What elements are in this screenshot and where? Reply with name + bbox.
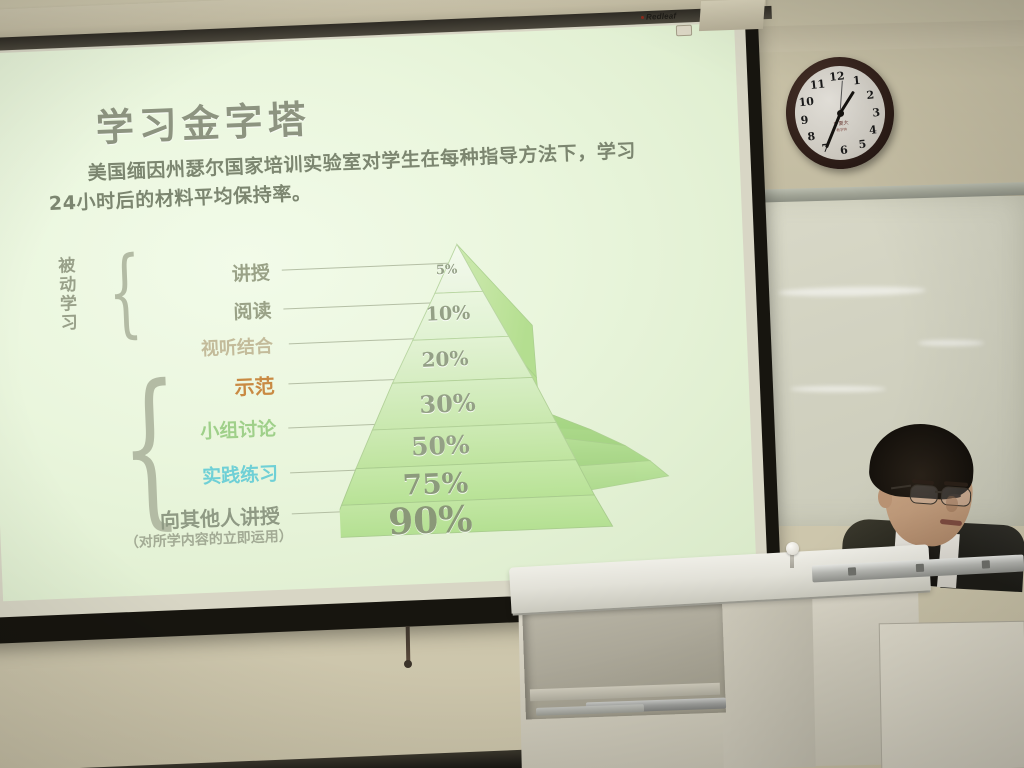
clock-number: 1: [849, 73, 864, 87]
pyramid-graphic: [328, 221, 701, 555]
nose: [946, 496, 958, 512]
equipment-cabinet-door[interactable]: [879, 621, 1024, 768]
projection-screen: 学习金字塔 美国缅因州瑟尔国家培训实验室对学生在每种指导方法下，学习24小时后的…: [0, 0, 782, 644]
rail-notch: [848, 567, 856, 575]
brand-dot-icon: [641, 16, 644, 19]
rail-notch: [916, 564, 924, 572]
whiteboard-glare: [918, 340, 984, 346]
screen-pull-cord-tip[interactable]: [404, 660, 412, 668]
stage-label-4: 小组讨论: [136, 414, 277, 447]
clock-number: 8: [804, 129, 819, 143]
clock-center-pin: [837, 110, 845, 118]
clock-number: 7: [818, 141, 833, 155]
pyramid-value-1: 10%: [425, 302, 470, 326]
clock-number: 6: [836, 143, 851, 157]
clock-number: 5: [855, 137, 870, 151]
page-title: 学习金字塔: [95, 88, 312, 152]
stage-label-2: 视听结合: [142, 332, 273, 363]
pyramid-value-4: 50%: [411, 430, 471, 461]
pyramid-value-2: 20%: [421, 346, 469, 372]
pyramid-value-0: 5%: [436, 262, 458, 278]
screen-pull-cord[interactable]: [406, 626, 411, 664]
stage-label-3: 示范: [144, 370, 275, 404]
brace-upper: {: [106, 243, 144, 340]
pyramid-value-3: 30%: [419, 388, 476, 419]
clock-number: 2: [863, 88, 878, 102]
pyramid-value-6: 90%: [387, 498, 473, 543]
stage-label-0: 讲授: [139, 258, 270, 290]
slide-content: 学习金字塔 美国缅因州瑟尔国家培训实验室对学生在每种指导方法下，学习24小时后的…: [0, 23, 757, 601]
eyeglass-lens-left: [909, 484, 938, 505]
rail-notch: [982, 560, 990, 568]
lectern-side-panel: [720, 595, 816, 768]
screen-brand-label: Redleaf: [646, 11, 677, 21]
clock-face: 12 1 2 3 4 5 6 7 8 9 10 11 宁夏大 教学钟: [790, 62, 889, 165]
screen-housing-screw: [676, 25, 692, 37]
pyramid-value-5: 75%: [402, 466, 469, 502]
classroom-scene: 12 1 2 3 4 5 6 7 8 9 10 11 宁夏大 教学钟: [0, 0, 1024, 768]
group-label-passive-learning: 被动学习: [49, 256, 78, 333]
clock-number: 11: [809, 78, 824, 92]
clock-number: 4: [865, 123, 880, 137]
projected-slide: 学习金字塔 美国缅因州瑟尔国家培训实验室对学生在每种指导方法下，学习24小时后的…: [0, 23, 757, 601]
clock-number: 3: [869, 106, 884, 120]
learning-pyramid-chart: 5% 10% 20% 30% 50% 75% 90%: [328, 221, 701, 555]
screen-mount-bracket: [699, 0, 765, 31]
clock-number: 10: [798, 95, 813, 109]
clock-number: 9: [797, 113, 812, 127]
whiteboard-glare: [790, 386, 886, 392]
microphone-knob[interactable]: [786, 542, 799, 555]
clock-brand-line2: 教学钟: [836, 127, 847, 132]
stage-label-5: 实践练习: [138, 459, 279, 492]
stage-label-1: 阅读: [141, 296, 272, 328]
